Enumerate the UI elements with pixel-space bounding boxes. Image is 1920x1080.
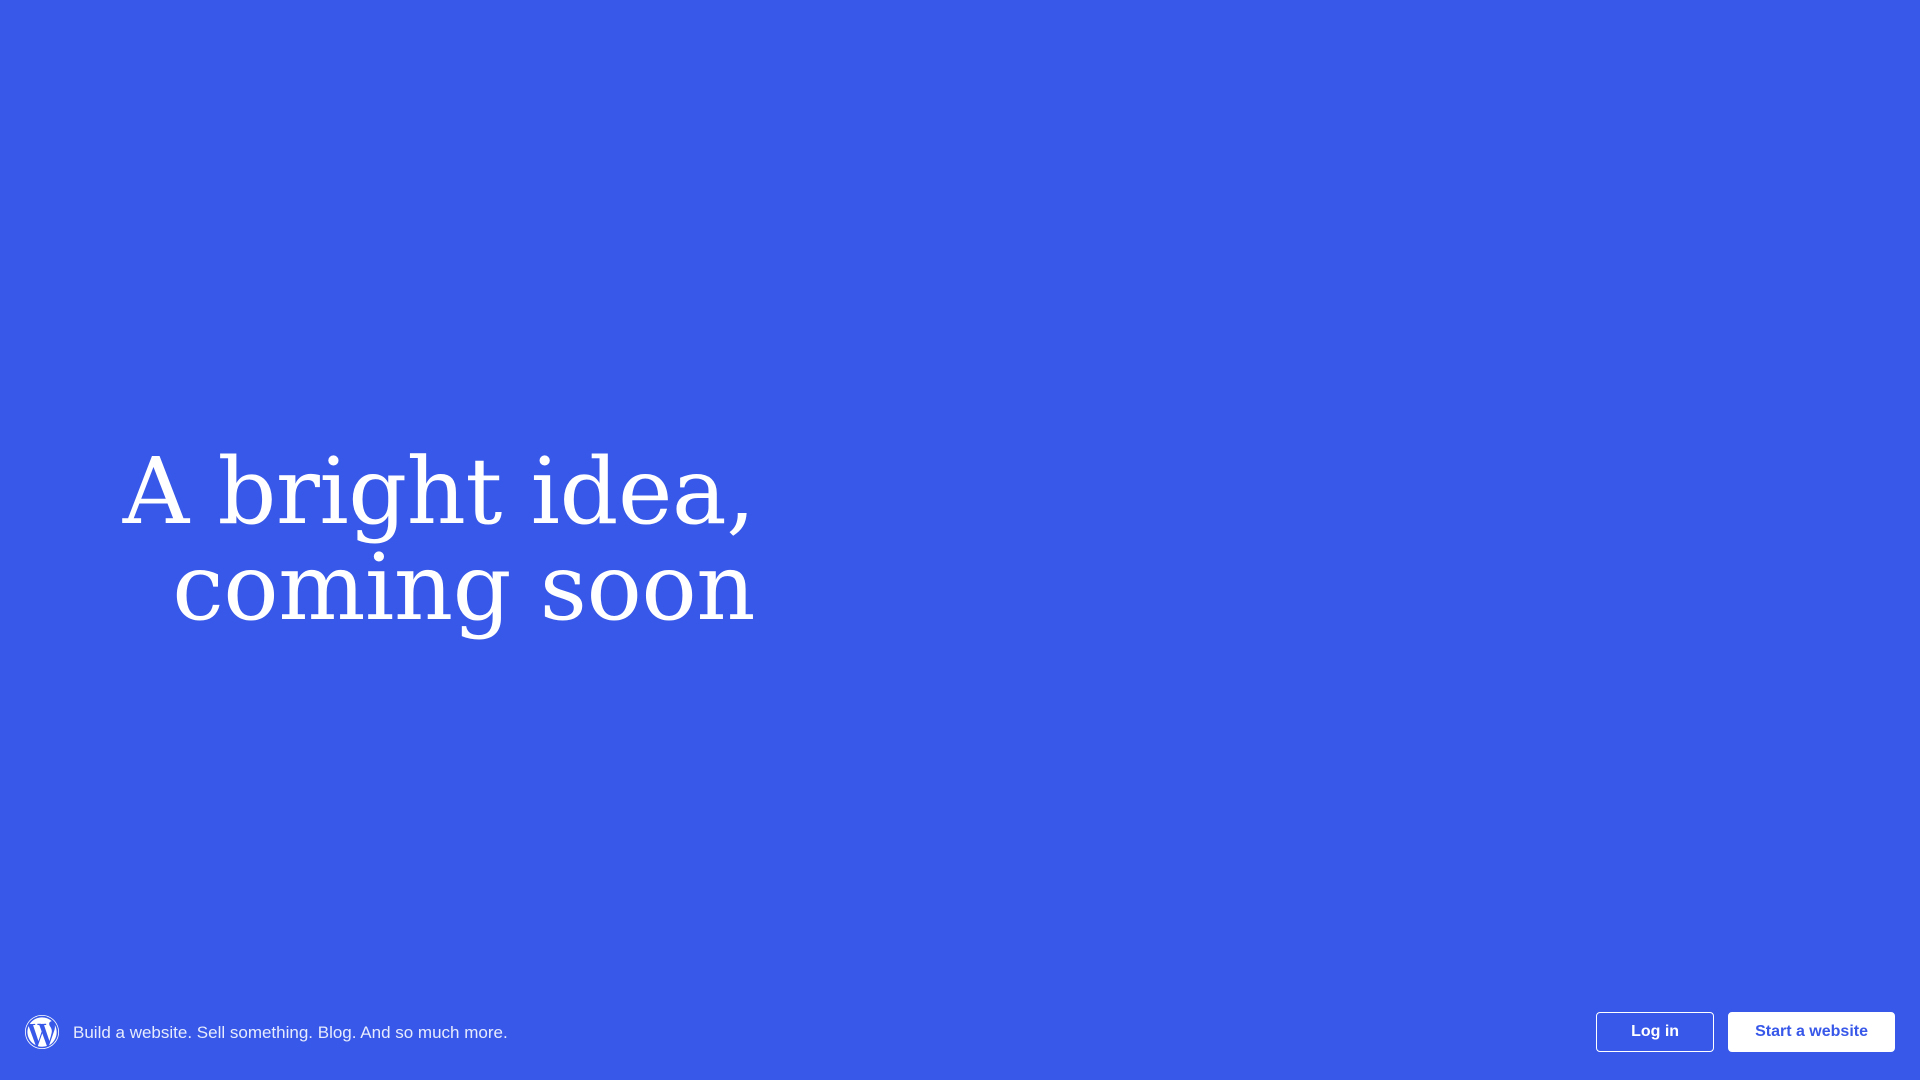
footer-tagline: Build a website. Sell something. Blog. A… <box>73 1024 508 1041</box>
start-a-website-button[interactable]: Start a website <box>1728 1012 1895 1052</box>
wordpress-logo-icon <box>25 1015 59 1049</box>
footer-branding: Build a website. Sell something. Blog. A… <box>25 1015 508 1049</box>
log-in-button[interactable]: Log in <box>1596 1012 1714 1052</box>
footer-bar: Build a website. Sell something. Blog. A… <box>0 984 1920 1080</box>
coming-soon-page: A bright idea, coming soon Build a websi… <box>0 0 1920 1080</box>
footer-actions: Log in Start a website <box>1596 1012 1895 1052</box>
page-title: A bright idea, coming soon <box>123 444 755 635</box>
hero-section: A bright idea, coming soon <box>0 0 760 1080</box>
